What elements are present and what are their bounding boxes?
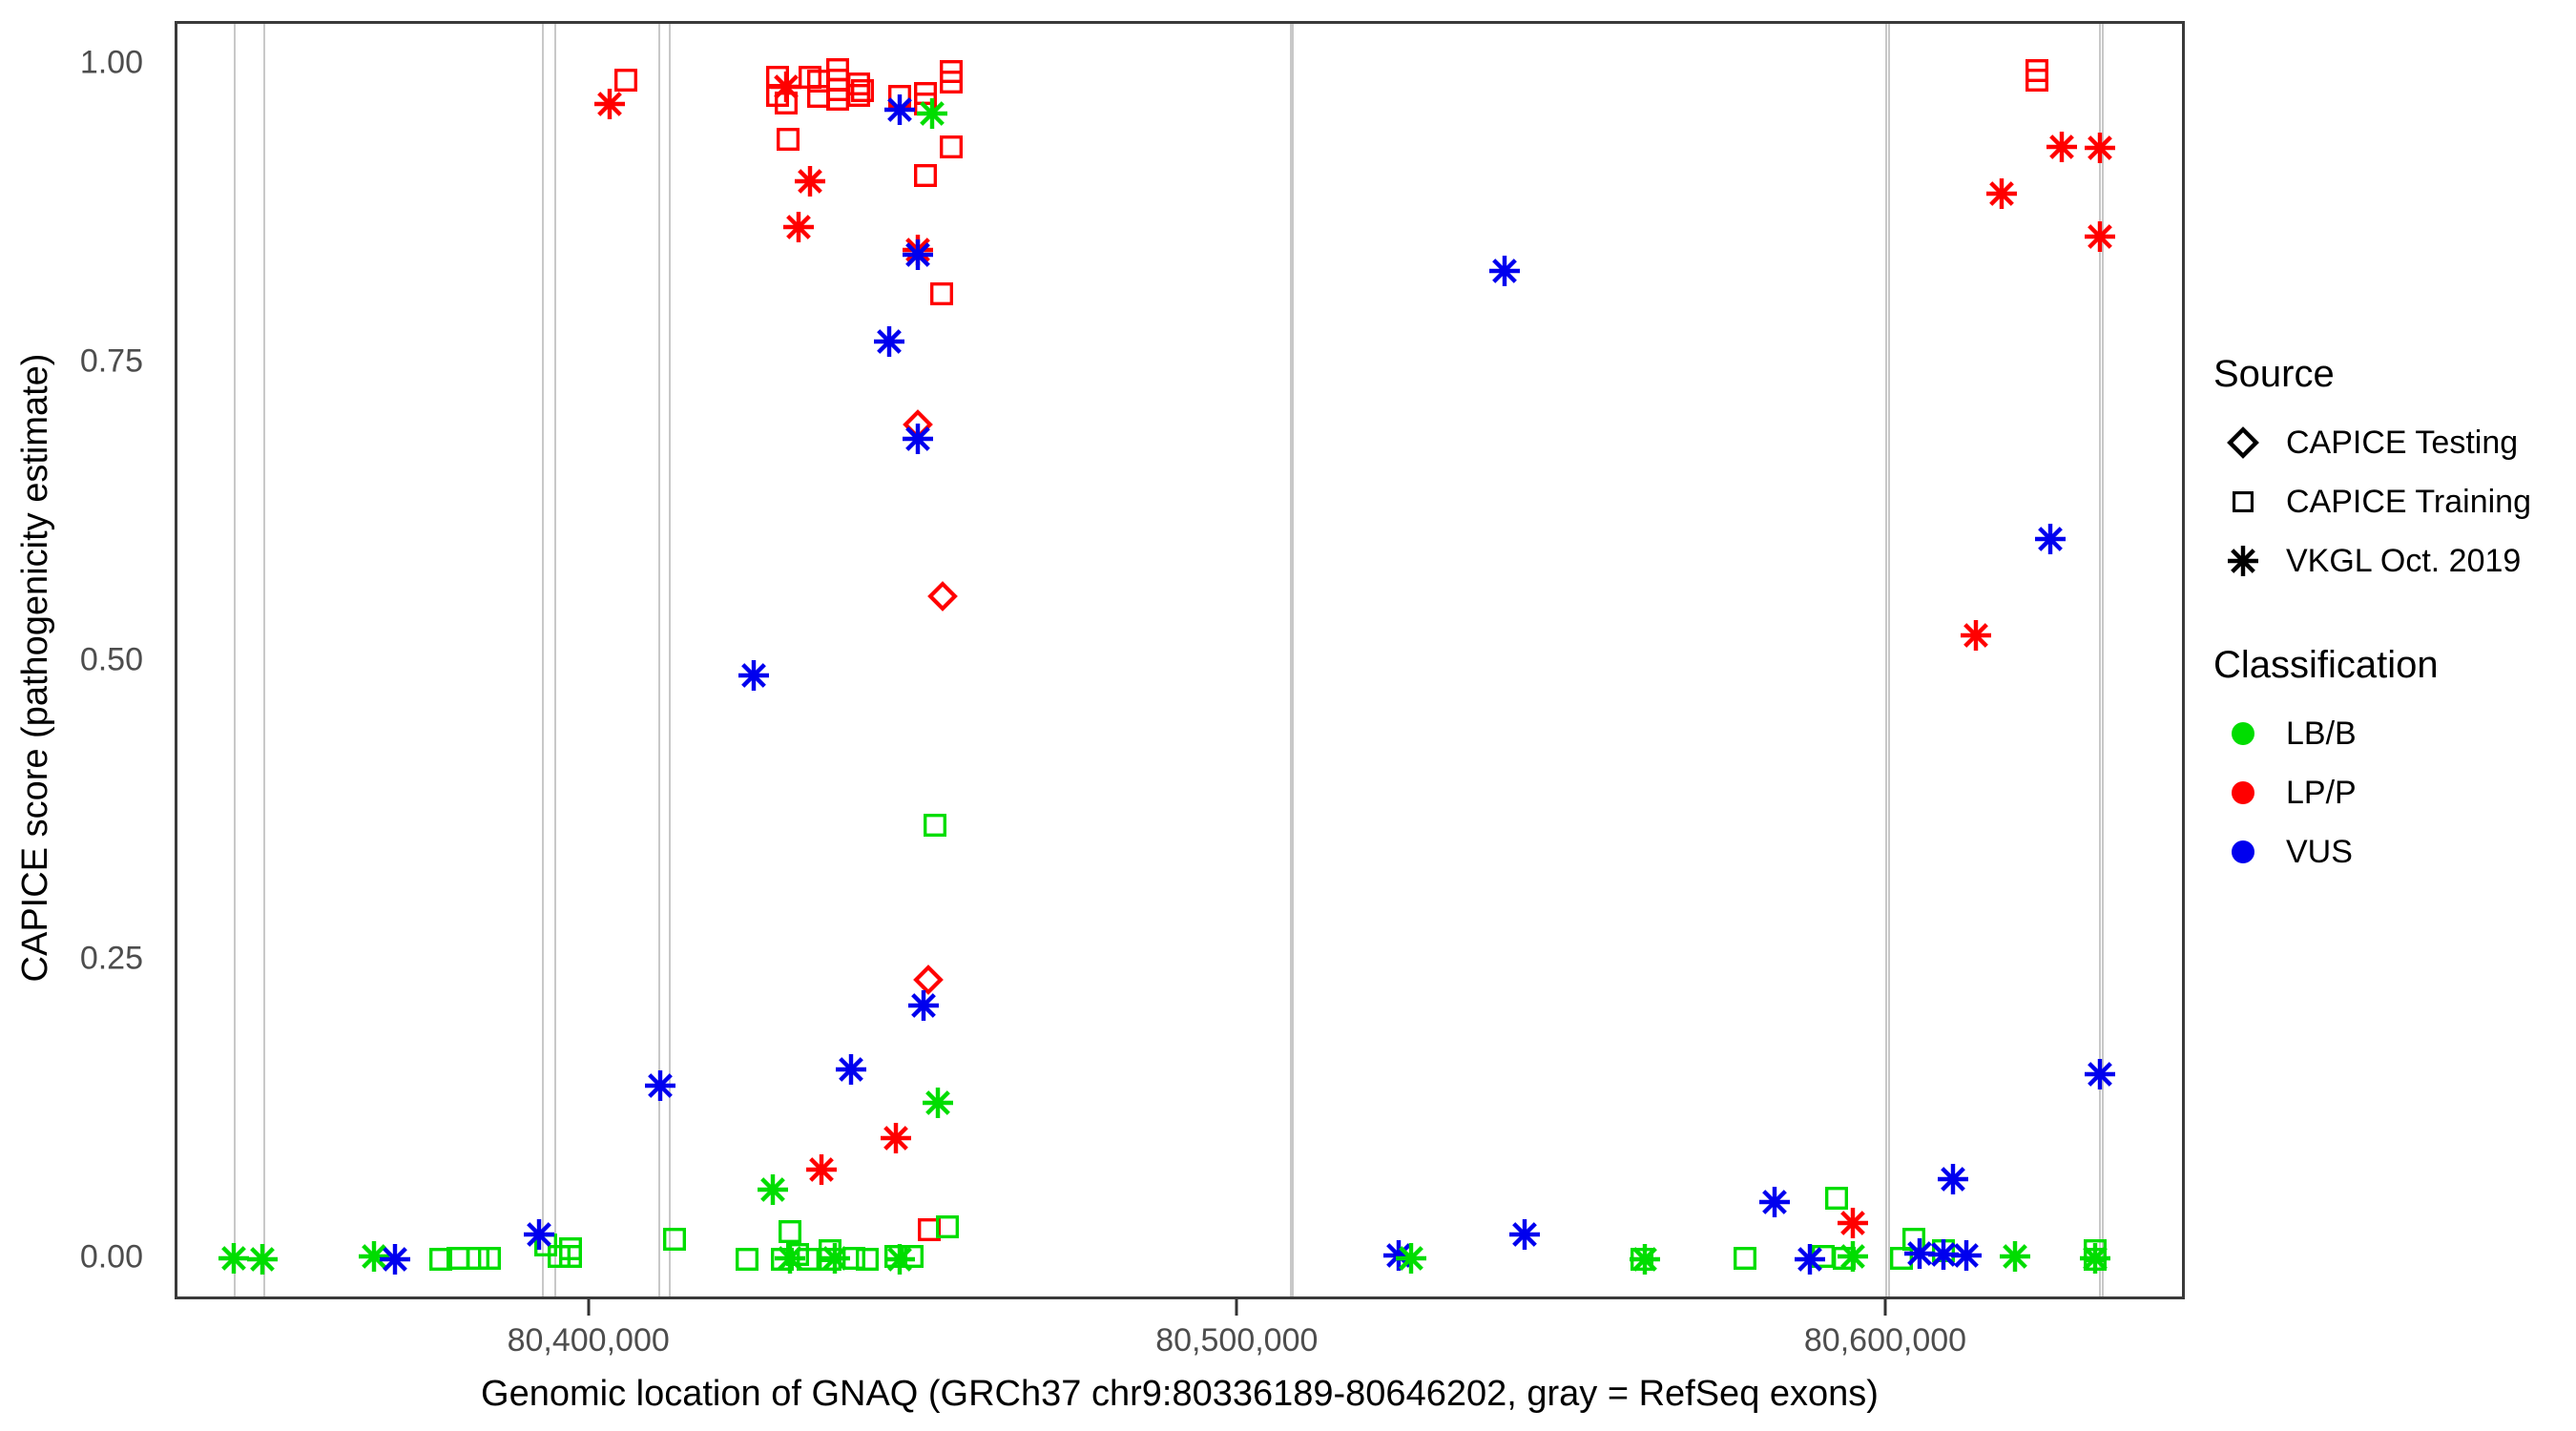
x-tick-mark — [1883, 1299, 1886, 1316]
legend-item-lb-b[interactable]: LB/B — [2213, 704, 2566, 763]
data-point — [883, 1244, 908, 1269]
data-point — [935, 1214, 960, 1239]
data-point — [1837, 1240, 1869, 1273]
exon-line — [658, 24, 660, 1296]
chart-legend: SourceCAPICE TestingCAPICE TrainingVKGL … — [2213, 353, 2566, 935]
data-point — [846, 72, 871, 96]
data-point — [902, 423, 934, 455]
source-legend: SourceCAPICE TestingCAPICE TrainingVKGL … — [2213, 353, 2566, 591]
data-point — [825, 68, 850, 93]
data-point — [916, 97, 948, 130]
data-point — [765, 83, 790, 108]
data-point — [1395, 1242, 1427, 1275]
data-point — [913, 163, 938, 188]
data-point — [358, 1240, 390, 1273]
data-point — [770, 71, 802, 103]
data-point — [846, 83, 871, 108]
data-point — [1937, 1163, 1969, 1195]
data-point — [1927, 1238, 1960, 1271]
legend-label: LB/B — [2286, 715, 2357, 753]
data-point — [922, 1087, 954, 1119]
data-point — [466, 1246, 490, 1271]
circle-icon — [2213, 704, 2273, 763]
legend-label: VKGL Oct. 2019 — [2286, 543, 2521, 580]
data-point — [1733, 1246, 1757, 1271]
data-point — [2079, 1242, 2111, 1275]
data-point — [913, 81, 938, 106]
data-point — [902, 238, 934, 271]
data-point — [850, 78, 875, 103]
data-point — [1837, 1207, 1869, 1239]
data-point — [446, 1246, 470, 1271]
data-point — [835, 1053, 867, 1086]
data-point — [805, 1153, 838, 1186]
legend-item-capice-training[interactable]: CAPICE Training — [2213, 472, 2566, 531]
data-point — [774, 91, 799, 115]
legend-label: CAPICE Testing — [2286, 425, 2518, 462]
plot-area — [177, 24, 2182, 1296]
data-point — [774, 1242, 806, 1275]
exon-line — [669, 24, 671, 1296]
data-point — [855, 1247, 880, 1272]
data-point — [880, 1122, 912, 1154]
data-point — [2083, 1247, 2108, 1272]
y-tick-label: 0.50 — [19, 642, 143, 679]
exon-line — [234, 24, 236, 1296]
legend-label: CAPICE Training — [2286, 484, 2531, 521]
legend-label: LP/P — [2286, 775, 2357, 812]
data-point — [913, 964, 944, 995]
data-point — [1629, 1243, 1661, 1275]
data-point — [1630, 1247, 1654, 1272]
data-point — [662, 1227, 687, 1252]
legend-item-lp-p[interactable]: LP/P — [2213, 763, 2566, 822]
data-point — [902, 234, 934, 266]
plot-panel — [175, 21, 2185, 1299]
data-point — [825, 77, 850, 102]
data-point — [428, 1247, 453, 1272]
data-point — [913, 92, 938, 116]
exon-line — [2102, 24, 2104, 1296]
data-point — [757, 1173, 789, 1206]
data-point — [825, 57, 850, 82]
data-point — [939, 59, 964, 84]
data-point — [547, 1244, 571, 1269]
data-point — [818, 1247, 842, 1272]
asterisk-icon — [2213, 531, 2273, 591]
data-point — [873, 325, 905, 358]
data-point — [1811, 1244, 1836, 1269]
data-point — [1931, 1238, 1956, 1263]
data-point — [1985, 177, 2018, 210]
exon-line — [2099, 24, 2101, 1296]
data-point — [2025, 58, 2049, 83]
legend-item-vkgl-oct-2019[interactable]: VKGL Oct. 2019 — [2213, 531, 2566, 591]
data-point — [735, 1247, 759, 1272]
legend-title: Source — [2213, 353, 2566, 396]
exon-line — [554, 24, 556, 1296]
data-point — [2046, 131, 2078, 163]
x-tick-mark — [1236, 1299, 1238, 1316]
data-point — [1824, 1186, 1849, 1211]
data-point — [939, 135, 964, 159]
data-point — [887, 84, 912, 109]
data-point — [1889, 1246, 1914, 1271]
y-tick-label: 1.00 — [19, 44, 143, 81]
x-axis-title: Genomic location of GNAQ (GRCh37 chr9:80… — [175, 1374, 2185, 1415]
data-point — [883, 1243, 916, 1275]
y-axis-ticks: 0.000.250.500.751.00 — [19, 0, 143, 1431]
legend-item-capice-testing[interactable]: CAPICE Testing — [2213, 413, 2566, 472]
data-point — [900, 1244, 924, 1269]
data-point — [939, 70, 964, 94]
data-point — [929, 281, 954, 306]
data-point — [1960, 619, 1992, 652]
data-point — [2034, 523, 2067, 555]
data-point — [246, 1243, 279, 1275]
data-point — [883, 93, 916, 126]
data-point — [806, 84, 831, 109]
data-point — [785, 1242, 810, 1267]
chart-root: CAPICE score (pathogenicity estimate) 0.… — [0, 0, 2576, 1431]
circle-icon — [2213, 822, 2273, 881]
data-point — [1903, 1237, 1936, 1270]
data-point — [794, 165, 826, 197]
data-point — [841, 1246, 866, 1271]
data-point — [1999, 1240, 2031, 1273]
data-point — [1950, 1239, 1983, 1272]
data-point — [558, 1244, 583, 1269]
circle-icon — [2213, 763, 2273, 822]
data-point — [737, 659, 770, 692]
data-point — [927, 581, 958, 612]
exon-line — [542, 24, 544, 1296]
data-point — [1832, 1246, 1857, 1271]
data-point — [819, 1242, 851, 1275]
legend-item-vus[interactable]: VUS — [2213, 822, 2566, 881]
exon-line — [1292, 24, 1294, 1296]
data-point — [778, 1219, 802, 1244]
data-point — [1488, 255, 1521, 287]
data-point — [907, 989, 940, 1022]
data-point — [2083, 1238, 2108, 1263]
square-icon — [2213, 472, 2273, 531]
exon-line — [1888, 24, 1890, 1296]
data-point — [379, 1243, 411, 1275]
y-tick-label: 0.00 — [19, 1239, 143, 1276]
data-point — [825, 87, 850, 112]
data-point — [1382, 1239, 1415, 1272]
data-point — [1901, 1227, 1926, 1252]
legend-title: Classification — [2213, 644, 2566, 687]
x-tick-label: 80,400,000 — [508, 1322, 670, 1359]
data-point — [593, 88, 626, 120]
data-point — [903, 409, 933, 440]
data-point — [776, 127, 800, 152]
data-point — [1758, 1186, 1791, 1218]
legend-label: VUS — [2286, 834, 2353, 871]
data-point — [917, 1217, 942, 1242]
data-point — [798, 65, 822, 90]
classification-legend: ClassificationLB/BLP/PVUS — [2213, 644, 2566, 881]
data-point — [770, 1247, 795, 1272]
data-point — [796, 1247, 821, 1272]
data-point — [765, 65, 790, 90]
data-point — [1794, 1243, 1826, 1275]
data-point — [806, 69, 831, 93]
x-tick-label: 80,600,000 — [1804, 1322, 1966, 1359]
y-tick-label: 0.25 — [19, 941, 143, 978]
data-point — [558, 1236, 583, 1261]
data-point — [923, 813, 947, 838]
data-point — [818, 1238, 842, 1263]
data-point — [523, 1218, 555, 1251]
exon-line — [263, 24, 265, 1296]
data-point — [1508, 1218, 1541, 1251]
data-point — [613, 68, 638, 93]
data-point — [2025, 68, 2049, 93]
data-point — [782, 211, 815, 243]
diamond-icon — [2213, 413, 2273, 472]
exon-line — [1885, 24, 1887, 1296]
y-tick-label: 0.75 — [19, 342, 143, 380]
x-tick-mark — [587, 1299, 590, 1316]
data-point — [477, 1246, 502, 1271]
x-tick-label: 80,500,000 — [1155, 1322, 1318, 1359]
